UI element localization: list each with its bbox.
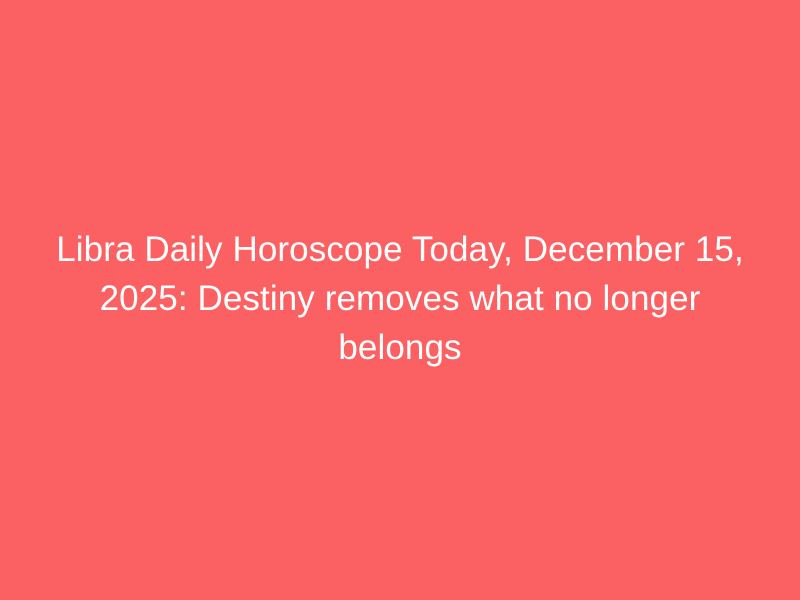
- page-title: Libra Daily Horoscope Today, December 15…: [40, 225, 760, 372]
- horoscope-share-card: Libra Daily Horoscope Today, December 15…: [0, 0, 800, 600]
- headline-block: Libra Daily Horoscope Today, December 15…: [40, 225, 760, 372]
